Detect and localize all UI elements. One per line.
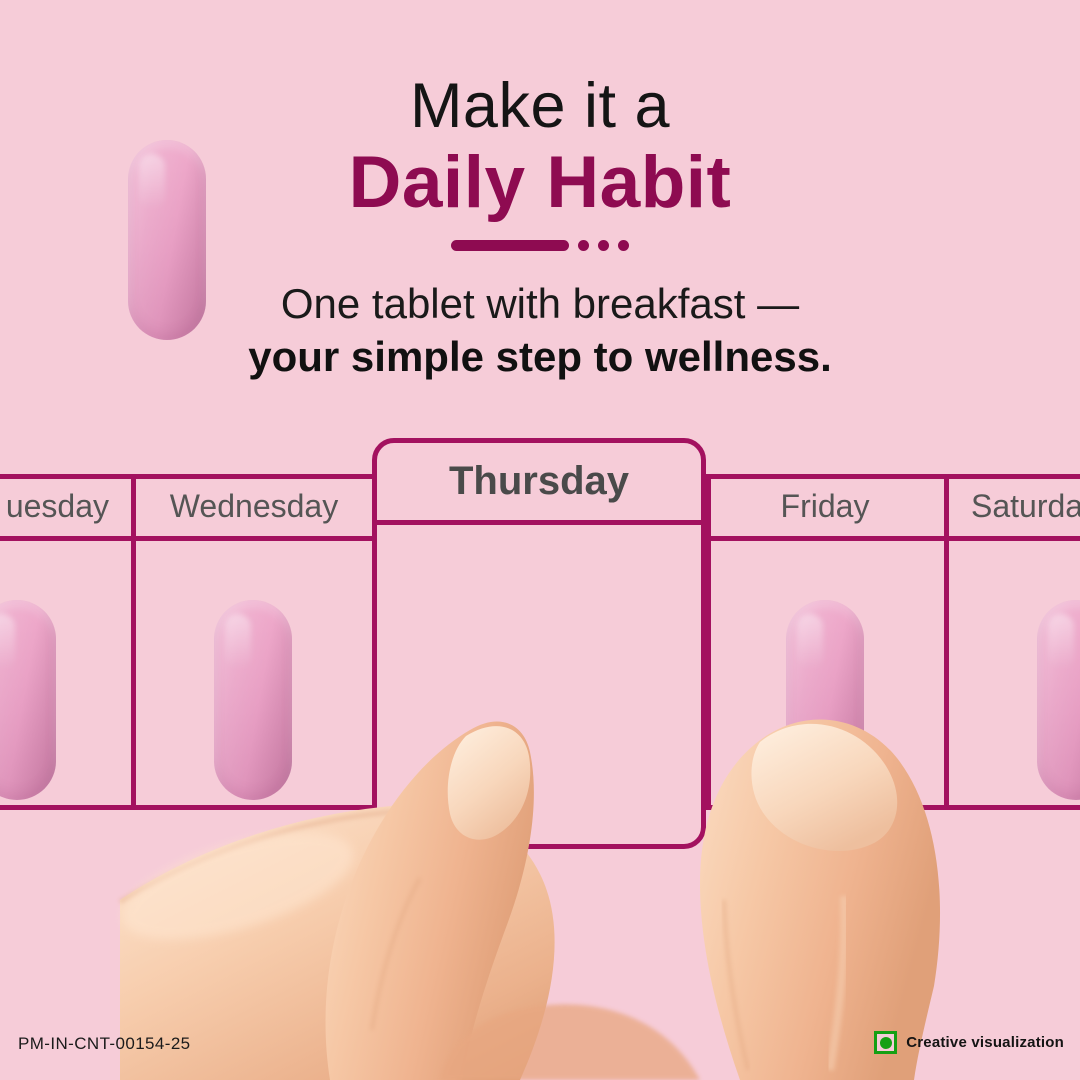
tablet-saturday bbox=[1037, 600, 1080, 800]
divider-dot-1 bbox=[578, 240, 589, 251]
calendar-day-label: Friday bbox=[706, 477, 944, 536]
calendar-column-wednesday[interactable]: Wednesday bbox=[136, 474, 372, 810]
finger-gap-shadow bbox=[440, 1004, 700, 1080]
green-vegetarian-mark-icon bbox=[874, 1031, 897, 1054]
creative-visualization-badge: Creative visualization bbox=[874, 1031, 1064, 1054]
calendar-column-uesday[interactable]: uesday bbox=[0, 474, 131, 810]
headline-line-2: Daily Habit bbox=[0, 142, 1080, 224]
headline-block: Make it a Daily Habit bbox=[0, 72, 1080, 251]
calendar-day-label: uesday bbox=[0, 477, 131, 536]
tablet-friday bbox=[786, 600, 864, 800]
regulatory-code: PM-IN-CNT-00154-25 bbox=[18, 1034, 191, 1054]
creative-visualization-label: Creative visualization bbox=[906, 1034, 1064, 1051]
subhead-line-1: One tablet with breakfast — bbox=[0, 278, 1080, 331]
calendar-day-label: Wednesday bbox=[136, 477, 372, 536]
divider-bar bbox=[451, 240, 569, 251]
veg-mark-dot bbox=[880, 1037, 892, 1049]
divider-dot-2 bbox=[598, 240, 609, 251]
calendar-column-saturday[interactable]: Saturday bbox=[949, 474, 1080, 810]
tablet-wednesday bbox=[214, 600, 292, 800]
subhead-block: One tablet with breakfast — your simple … bbox=[0, 278, 1080, 384]
divider-dot-3 bbox=[618, 240, 629, 251]
highlighted-day-card-thursday[interactable]: Thursday bbox=[372, 438, 706, 849]
highlighted-day-label: Thursday bbox=[377, 443, 701, 520]
tablet-uesday bbox=[0, 600, 56, 800]
rear-finger-sheen bbox=[111, 811, 365, 961]
headline-line-1: Make it a bbox=[0, 72, 1080, 140]
subhead-line-2: your simple step to wellness. bbox=[0, 331, 1080, 384]
thumb-crease bbox=[724, 900, 748, 1070]
index-finger-crease bbox=[372, 878, 420, 1030]
highlighted-card-divider bbox=[372, 520, 706, 525]
headline-divider bbox=[0, 240, 1080, 251]
calendar-column-friday[interactable]: Friday bbox=[706, 474, 944, 810]
rear-finger-highlight bbox=[120, 812, 392, 902]
poster-canvas: Make it a Daily Habit One tablet with br… bbox=[0, 0, 1080, 1080]
calendar-day-label: Saturday bbox=[949, 477, 1080, 536]
thumb-highlight bbox=[830, 896, 844, 1070]
